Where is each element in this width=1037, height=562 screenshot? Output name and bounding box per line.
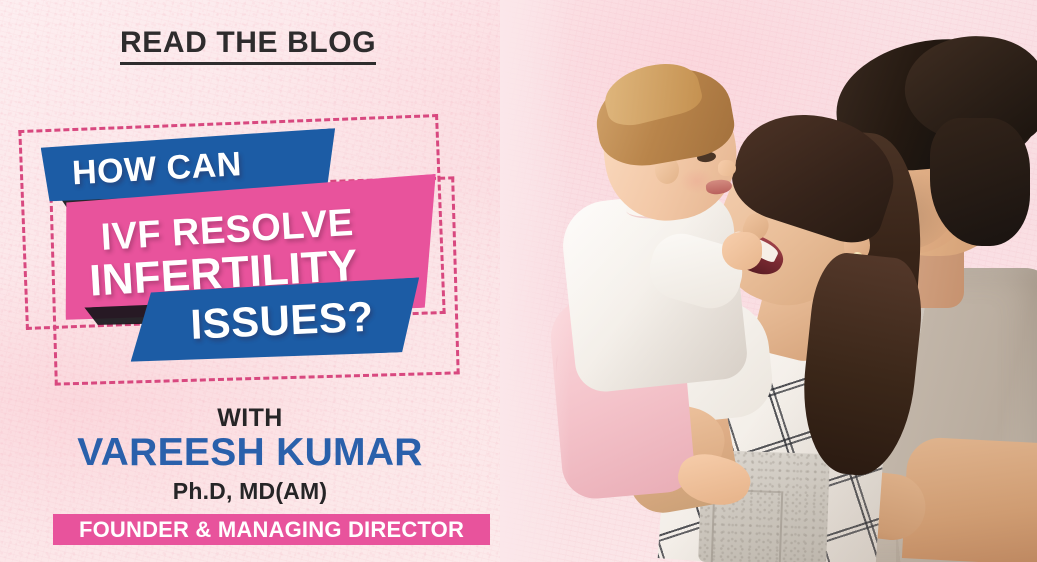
headline-line-4: ISSUES? — [190, 296, 375, 346]
headline-line-1: HOW CAN — [71, 147, 242, 190]
speaker-name: VAREESH KUMAR — [0, 433, 500, 474]
promo-banner: READ THE BLOG HOW CAN IVF RESOLVE INFERT… — [0, 0, 1037, 562]
headline-group: HOW CAN IVF RESOLVE INFERTILITY ISSUES? — [0, 0, 520, 400]
speaker-credentials: Ph.D, MD(AM) — [0, 478, 500, 505]
speaker-role-bar: FOUNDER & MANAGING DIRECTOR — [53, 514, 490, 545]
family-photo — [500, 0, 1037, 562]
with-label: WITH — [0, 404, 500, 433]
father-hair-side — [930, 118, 1030, 246]
baby-nose — [718, 160, 736, 176]
speaker-role-text: FOUNDER & MANAGING DIRECTOR — [79, 517, 464, 543]
baby-hand — [722, 232, 762, 270]
